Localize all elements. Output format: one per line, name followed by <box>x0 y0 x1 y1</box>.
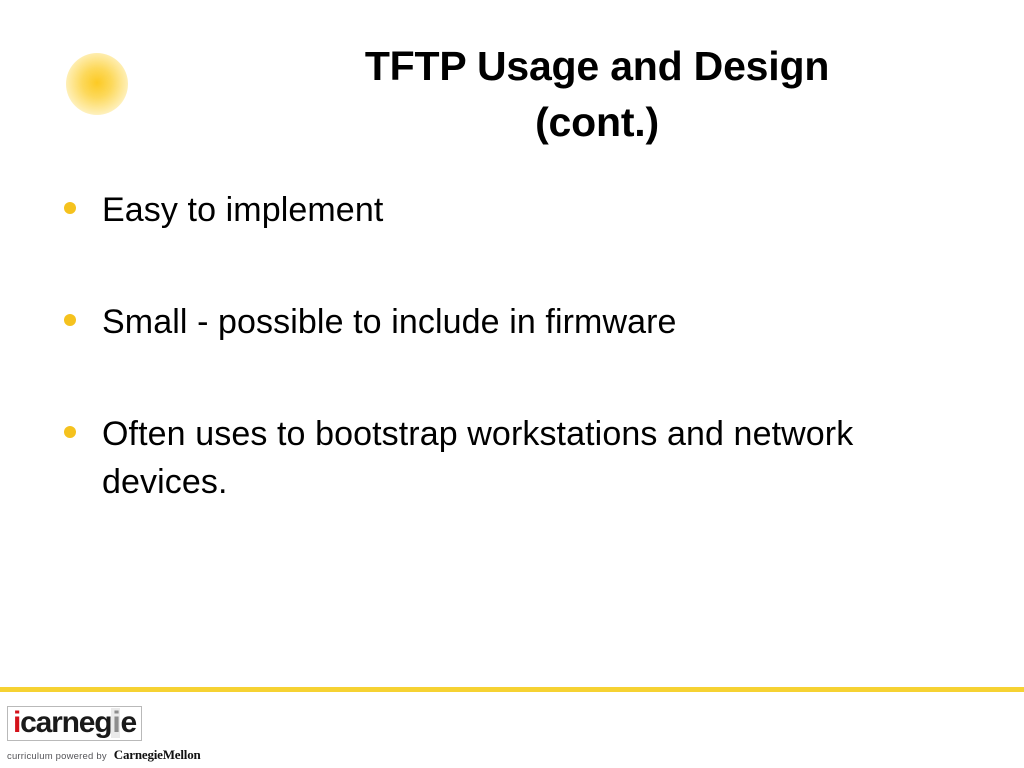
icarnegie-logo-i-red: i <box>13 708 20 738</box>
bullet-text-2: Small - possible to include in firmware <box>102 303 677 341</box>
slide-canvas: TFTP Usage and Design (cont.) Easy to im… <box>0 0 1024 768</box>
slide-title-line-2: (cont.) <box>300 94 894 150</box>
bullet-item-3: Often uses to bootstrap workstations and… <box>60 410 960 506</box>
bullet-item-1: Easy to implement <box>60 186 960 234</box>
icarnegie-logo-e: e <box>120 708 136 738</box>
bullet-text-1: Easy to implement <box>102 191 383 229</box>
slide-title: TFTP Usage and Design (cont.) <box>300 38 894 150</box>
icarnegie-logo-box: icarnegie <box>7 706 142 741</box>
icarnegie-logo-carneg: carneg <box>20 708 111 738</box>
tagline-prefix: curriculum powered by <box>7 751 107 762</box>
tagline-brand-first: Carnegie <box>114 747 163 762</box>
tagline-brand-second: Mellon <box>163 747 201 762</box>
footer-tagline: curriculum powered byCarnegieMellon <box>7 746 287 764</box>
bullet-dot-icon <box>64 426 76 438</box>
bullet-dot-icon <box>64 314 76 326</box>
footer-logo: icarnegie curriculum powered byCarnegieM… <box>7 706 287 764</box>
icarnegie-logo-i-grey: i <box>111 708 120 738</box>
starburst-core <box>66 53 128 115</box>
footer-divider <box>0 687 1024 692</box>
bullet-list: Easy to implement Small - possible to in… <box>60 186 960 506</box>
bullet-text-3: Often uses to bootstrap workstations and… <box>102 415 853 501</box>
yellow-starburst-icon <box>57 44 137 124</box>
bullet-item-2: Small - possible to include in firmware <box>60 298 960 346</box>
bullet-dot-icon <box>64 202 76 214</box>
slide-title-line-1: TFTP Usage and Design <box>300 38 894 94</box>
